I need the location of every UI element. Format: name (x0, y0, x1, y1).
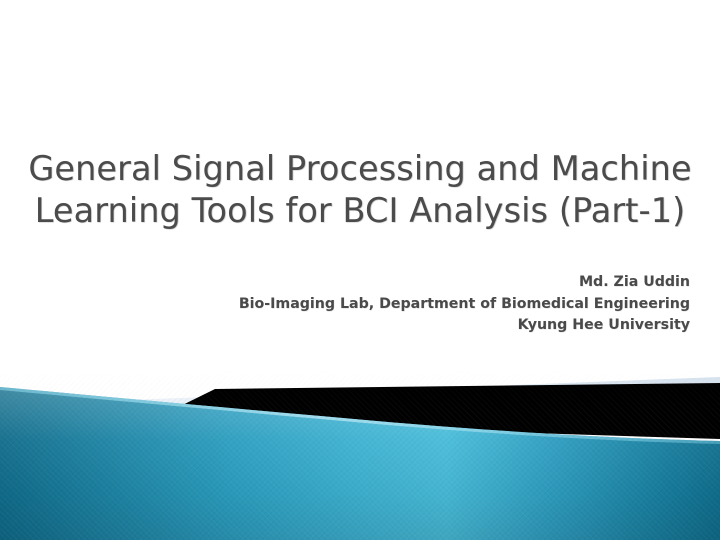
title-line-2: Learning Tools for BCI Analysis (Part-1) (0, 190, 720, 232)
subtitle-institution: Kyung Hee University (239, 315, 690, 337)
title-line-1: General Signal Processing and Machine (0, 148, 720, 190)
bottom-wave-banner (0, 365, 720, 540)
wave-banner-svg (0, 365, 720, 540)
subtitle-author: Md. Zia Uddin (239, 272, 690, 294)
page-title: General Signal Processing and Machine Le… (0, 148, 720, 232)
presentation-title-slide: General Signal Processing and Machine Le… (0, 0, 720, 540)
subtitle-affiliation: Bio-Imaging Lab, Department of Biomedica… (239, 294, 690, 316)
subtitle: Md. Zia Uddin Bio-Imaging Lab, Departmen… (239, 272, 690, 337)
